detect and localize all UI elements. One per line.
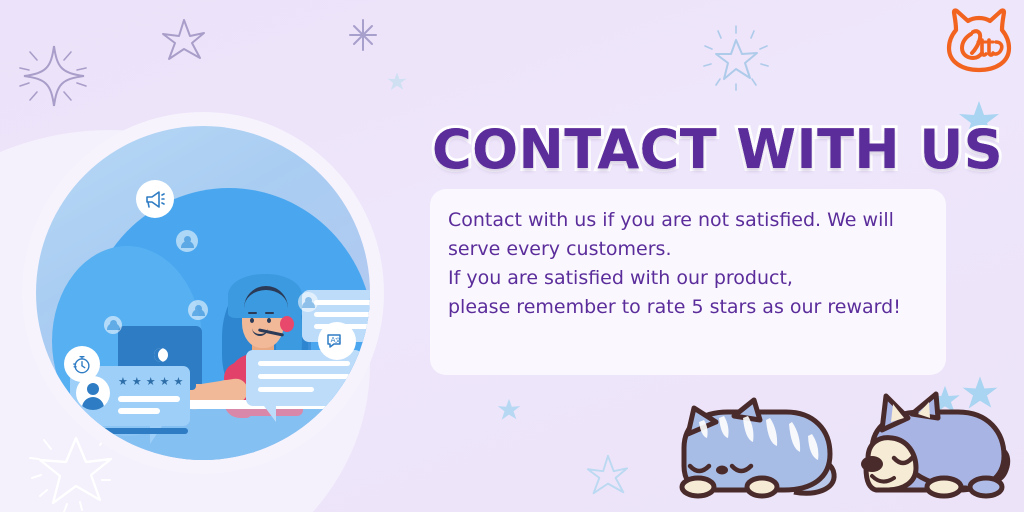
banner-canvas: ★★★★★: [0, 0, 1024, 512]
review-text-line: [118, 396, 180, 402]
five-point-star-outline-icon: [160, 16, 206, 64]
illustration-disc: ★★★★★: [36, 126, 370, 460]
avatar-dot-icon: [188, 300, 208, 320]
five-point-star-outline-icon: [584, 452, 630, 498]
radiant-star-blue-icon: [700, 22, 772, 94]
review-text-line: [118, 408, 160, 414]
star-icon: ★: [160, 376, 170, 387]
page-title: CONTACT WITH US !!: [432, 118, 962, 181]
star-icon: ★: [132, 376, 142, 387]
stopwatch-icon: [64, 346, 100, 382]
avatar-dot-icon: [176, 230, 198, 252]
message-line: If you are satisfied with our product,: [448, 264, 932, 293]
sleeping-cat-mascot: [668, 392, 848, 504]
sleeping-dog-mascot: [846, 388, 1018, 504]
customer-support-illustration: ★★★★★: [22, 112, 384, 474]
translate-icon: A 文: [318, 322, 356, 360]
cat-logo: [944, 8, 1014, 74]
star-icon: ★: [174, 376, 184, 387]
svg-text:文: 文: [335, 337, 341, 345]
star-icon: ★: [118, 376, 128, 387]
filled-star-blue-icon: [386, 70, 408, 92]
headset-earpiece-icon: [280, 316, 294, 332]
avatar-dot-icon: [104, 316, 122, 334]
filled-star-blue-icon: [496, 396, 522, 422]
message-line: Contact with us if you are not satisfied…: [448, 206, 932, 235]
small-plus-star-icon: [346, 16, 380, 54]
star-icon: ★: [146, 376, 156, 387]
message-panel: Contact with us if you are not satisfied…: [430, 189, 946, 375]
message-line: serve every customers.: [448, 235, 932, 264]
message-line: please remember to rate 5 stars as our r…: [448, 293, 932, 322]
rating-stars: ★★★★★: [118, 376, 183, 387]
megaphone-icon: [136, 180, 174, 218]
review-card-base: [56, 428, 188, 434]
avatar-dot-icon: [298, 292, 318, 312]
moon-logo-icon: [154, 348, 168, 362]
sparkle-star-outline-icon: [10, 38, 96, 114]
